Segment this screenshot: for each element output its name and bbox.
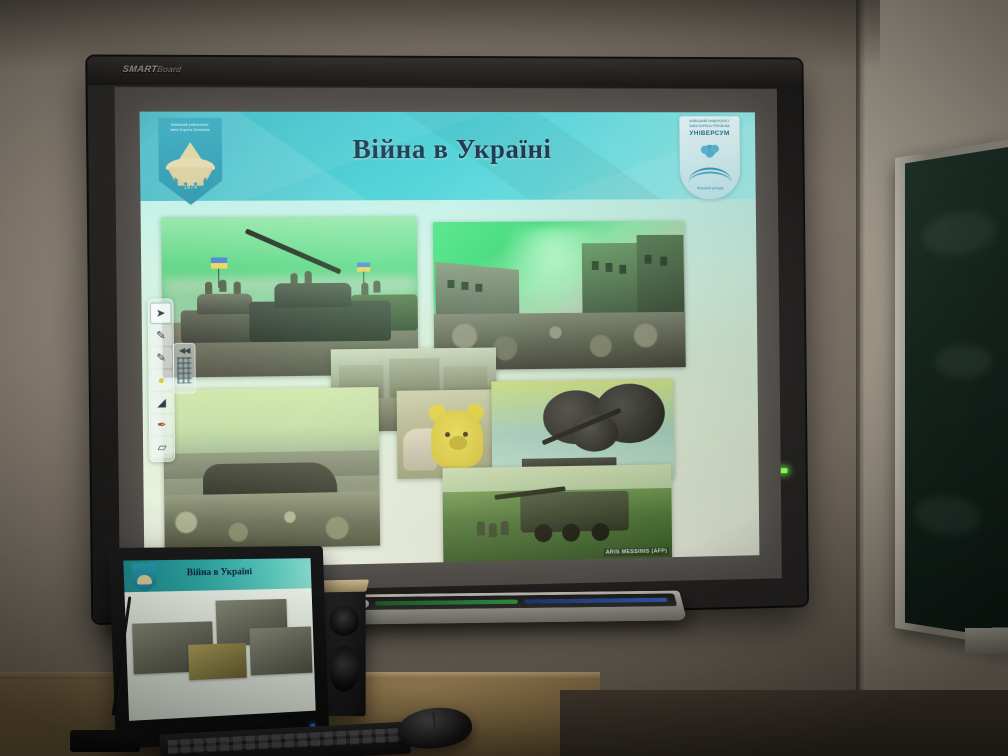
monitor-screen[interactable]: Війна в Україні xyxy=(123,558,315,721)
crest-caption-2: імені Бориса Грінченка xyxy=(162,128,217,133)
universum-caption-1: КИЇВСЬКИЙ УНІВЕРСИТЕТ xyxy=(682,119,736,123)
universum-caption-2: ІМЕНІ БОРИСА ГРІНЧЕНКА xyxy=(682,124,736,128)
smart-board-brand-sub: Board xyxy=(157,65,182,74)
desktop-speaker xyxy=(323,588,366,717)
smart-board-screen[interactable]: Війна в Україні Київський університет ім… xyxy=(115,87,782,594)
photo-destroyed-car xyxy=(163,387,380,550)
projected-slide: Війна в Україні Київський університет ім… xyxy=(140,112,760,569)
rays-icon xyxy=(167,167,214,185)
smart-board-brand: SMART xyxy=(122,64,158,74)
wall-corner xyxy=(856,0,866,756)
universum-subtitle: Фаховий коледж xyxy=(680,186,740,190)
floor xyxy=(560,690,1008,756)
chalkboard-surface xyxy=(905,147,1008,639)
speaker-cone-top xyxy=(329,606,358,636)
computer-monitor[interactable]: Війна в Україні xyxy=(109,546,329,749)
slide-body: ARIS MESSINIS (AFP) ➤ ✎ ✎ ● ◢ ✒ ▱ ◀◀ xyxy=(140,199,759,569)
ink-collapse-panel[interactable]: ◀◀ xyxy=(173,343,196,394)
highlighter-tool-icon[interactable]: ● xyxy=(150,369,172,391)
mini-slide-body xyxy=(124,588,315,721)
shape-tool-icon[interactable]: ✒ xyxy=(151,414,173,436)
chalkboard xyxy=(895,139,1008,647)
smart-ink-toolbar[interactable]: ➤ ✎ ✎ ● ◢ ✒ ▱ xyxy=(148,298,175,462)
pen-tool-icon[interactable]: ✎ xyxy=(150,325,172,347)
crest-caption-1: Київський університет xyxy=(162,123,217,128)
collapse-icon[interactable]: ◀◀ xyxy=(179,346,190,355)
speaker-cone-bottom xyxy=(329,646,358,692)
more-tool-icon[interactable]: ▱ xyxy=(151,436,173,458)
smart-board-logo: SMARTBoard xyxy=(122,64,182,74)
smart-board-top-bezel xyxy=(87,56,802,86)
photo-howitzer-field: ARIS MESSINIS (AFP) xyxy=(442,464,672,562)
green-pen[interactable] xyxy=(375,600,519,606)
mini-photo-3 xyxy=(188,643,247,680)
smart-board[interactable]: SMARTBoard Війна в Україні Київський уні… xyxy=(87,56,807,623)
mini-photo-4 xyxy=(249,626,312,675)
eraser-tool-icon[interactable]: ◢ xyxy=(151,392,173,414)
blue-pen[interactable] xyxy=(524,598,668,604)
slide-title: Війна в Україні xyxy=(140,134,756,166)
photo-credit: ARIS MESSINIS (AFP) xyxy=(604,547,669,556)
monitor-stand xyxy=(70,730,140,752)
classroom-scene: SMARTBoard Війна в Україні Київський уні… xyxy=(0,0,1008,756)
chalk-tray xyxy=(965,628,1008,655)
pen-tool-2-icon[interactable]: ✎ xyxy=(150,347,172,369)
speaker-top xyxy=(319,580,369,593)
cursor-tool-icon[interactable]: ➤ xyxy=(150,302,172,324)
keypad-grid-icon[interactable] xyxy=(177,357,192,384)
